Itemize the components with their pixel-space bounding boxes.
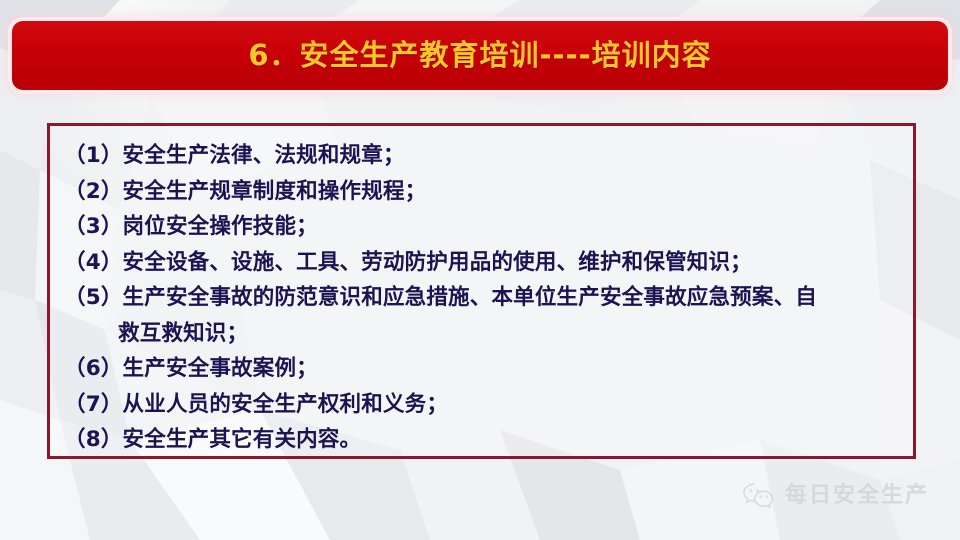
slide-title-banner: 6．安全生产教育培训----培训内容 bbox=[12, 21, 948, 90]
content-box: （1）安全生产法律、法规和规章；（2）安全生产规章制度和操作规程；（3）岗位安全… bbox=[47, 123, 916, 459]
list-item: （3）岗位安全操作技能； bbox=[64, 209, 899, 245]
watermark: 每日安全生产 bbox=[742, 482, 929, 510]
list-item-line: （7）从业人员的安全生产权利和义务； bbox=[64, 387, 899, 423]
list-item-line: （8）安全生产其它有关内容。 bbox=[64, 422, 899, 458]
list-item-line: （2）安全生产规章制度和操作规程； bbox=[64, 174, 899, 210]
list-item-line: （1）安全生产法律、法规和规章； bbox=[64, 138, 899, 174]
list-item: （5）生产安全事故的防范意识和应急措施、本单位生产安全事故应急预案、自救互救知识… bbox=[64, 280, 899, 351]
list-item: （1）安全生产法律、法规和规章； bbox=[64, 138, 899, 174]
list-item-line: （3）岗位安全操作技能； bbox=[64, 209, 899, 245]
watermark-label: 每日安全生产 bbox=[785, 485, 929, 507]
wechat-icon bbox=[742, 482, 776, 510]
list-item-line: （6）生产安全事故案例； bbox=[64, 351, 899, 387]
list-item-line: （5）生产安全事故的防范意识和应急措施、本单位生产安全事故应急预案、自 bbox=[64, 280, 899, 316]
list-item-line: （4）安全设备、设施、工具、劳动防护用品的使用、维护和保管知识； bbox=[64, 245, 899, 281]
training-content-list: （1）安全生产法律、法规和规章；（2）安全生产规章制度和操作规程；（3）岗位安全… bbox=[64, 138, 899, 458]
list-item: （7）从业人员的安全生产权利和义务； bbox=[64, 387, 899, 423]
list-item: （6）生产安全事故案例； bbox=[64, 351, 899, 387]
page-title: 6．安全生产教育培训----培训内容 bbox=[248, 41, 711, 70]
list-item: （8）安全生产其它有关内容。 bbox=[64, 422, 899, 458]
list-item-line: 救互救知识； bbox=[64, 316, 899, 352]
list-item: （4）安全设备、设施、工具、劳动防护用品的使用、维护和保管知识； bbox=[64, 245, 899, 281]
slide-canvas: 6．安全生产教育培训----培训内容 （1）安全生产法律、法规和规章；（2）安全… bbox=[0, 0, 960, 540]
list-item: （2）安全生产规章制度和操作规程； bbox=[64, 174, 899, 210]
